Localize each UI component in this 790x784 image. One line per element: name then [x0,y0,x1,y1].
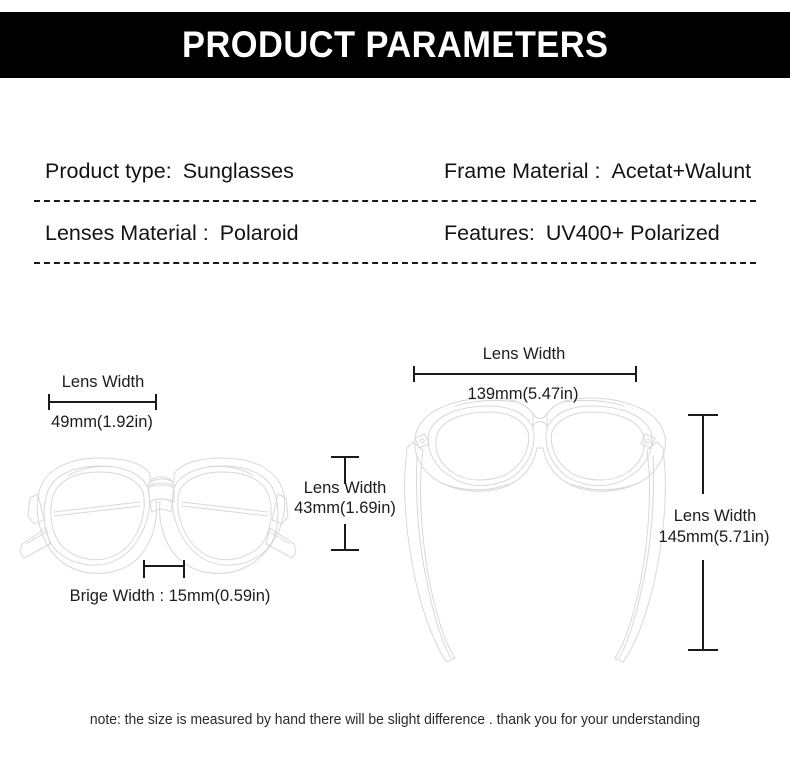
spec-label: Frame Material : [444,159,601,184]
page-title: PRODUCT PARAMETERS [182,24,608,66]
spec-features: Features: UV400+ Polarized [439,221,756,246]
spec-label: Product type: [45,159,172,184]
spec-value: UV400+ Polarized [546,221,720,246]
spec-lenses-material: Lenses Material : Polaroid [34,221,439,246]
frame-width-dimension-bar [410,364,646,384]
size-diagram-area: Lens Width 49mm(1.92in) Brige Width : 15… [0,282,790,692]
spec-label: Lenses Material : [45,221,209,246]
product-parameters-table: Product type: Sunglasses Frame Material … [0,140,790,264]
temple-length-value: 145mm(5.71in) [638,527,790,548]
table-row: Lenses Material : Polaroid Features: UV4… [0,202,790,264]
spec-value: Polaroid [220,221,299,246]
spec-label: Features: [444,221,535,246]
bridge-width-dimension-bar [138,558,198,580]
lens-height-value: 43mm(1.69in) [278,498,412,519]
table-row: Product type: Sunglasses Frame Material … [0,140,790,202]
front-lens-width-dimension-bar [38,392,178,412]
sunglasses-top-view-illustration [395,390,675,670]
spec-frame-material: Frame Material : Acetat+Walunt [439,159,756,184]
spec-value: Acetat+Walunt [612,159,752,184]
measurement-disclaimer-note: note: the size is measured by hand there… [16,712,774,728]
front-lens-width-label: Lens Width [40,372,166,393]
frame-width-label: Lens Width [412,344,636,365]
frame-width-value: 139mm(5.47in) [410,384,636,405]
row-divider [34,262,756,264]
spec-product-type: Product type: Sunglasses [34,159,439,184]
bridge-width-label: Brige Width : 15mm(0.59in) [30,586,310,607]
temple-length-label: Lens Width [640,506,790,527]
lens-height-label: Lens Width [280,478,410,499]
header-banner: PRODUCT PARAMETERS [0,12,790,78]
spec-value: Sunglasses [183,159,294,184]
front-lens-width-value: 49mm(1.92in) [35,412,169,433]
